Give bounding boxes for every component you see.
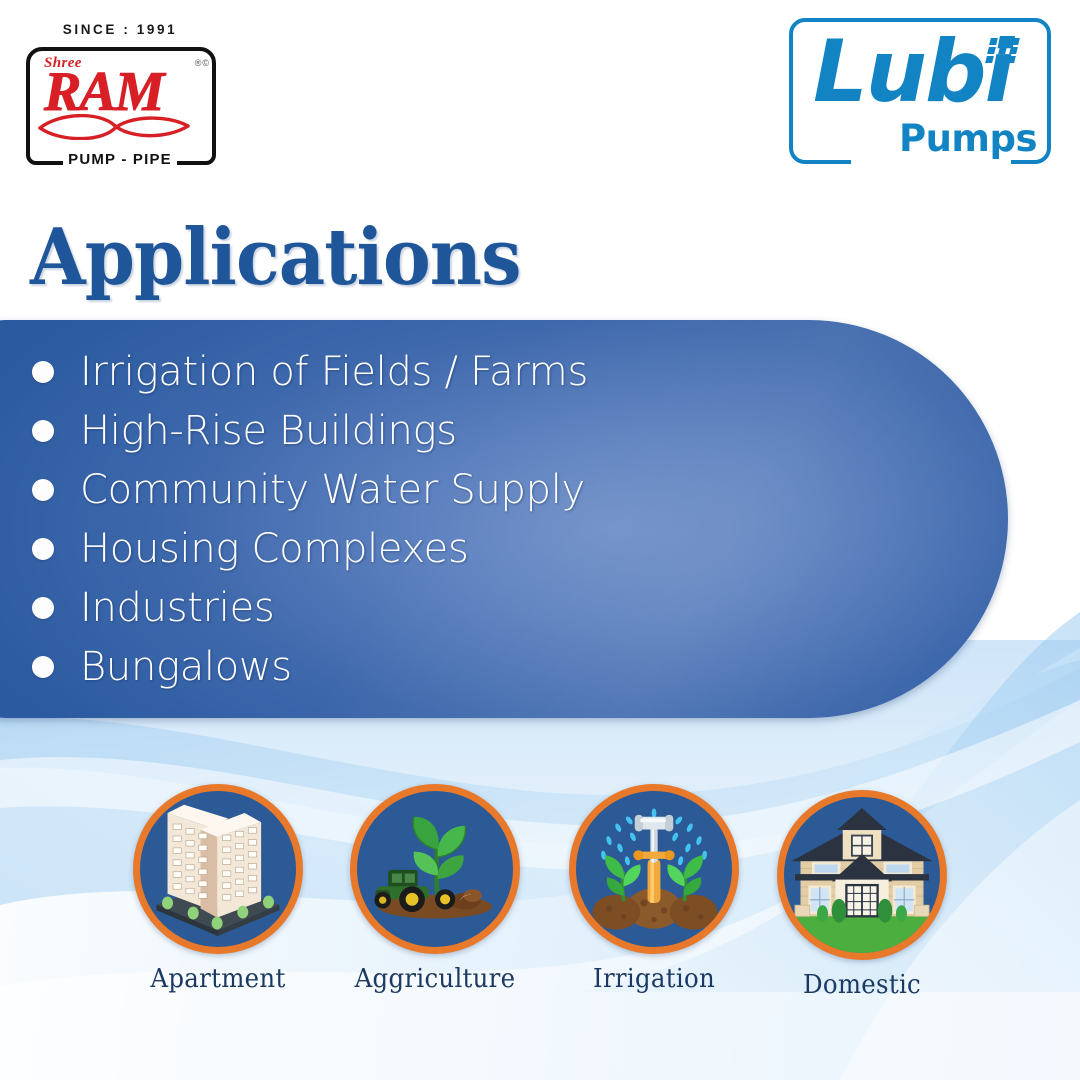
list-item-label: Community Water Supply [80, 468, 585, 512]
list-item: High-Rise Buildings [32, 401, 932, 460]
shree-ram-logo: SINCE : 1991 Shree RAM ®© PUMP - PIPE [20, 22, 220, 167]
bullet-dot-icon [32, 597, 54, 619]
ram-since-text: SINCE : 1991 [20, 22, 220, 37]
apartment-buildings-icon [133, 784, 303, 954]
ram-tagline: PUMP - PIPE [63, 151, 177, 168]
ram-tagline-wrap: PUMP - PIPE [20, 151, 220, 169]
list-item: Irrigation of Fields / Farms [32, 342, 932, 401]
lubi-wordmark: Lubi [813, 24, 1012, 120]
lubi-subtitle: Pumps [899, 117, 1037, 160]
applications-panel: Irrigation of Fields / Farms High-Rise B… [0, 320, 1008, 718]
list-item: Industries [32, 578, 932, 637]
list-item: Housing Complexes [32, 519, 932, 578]
sprinkler-icon [569, 784, 739, 954]
applications-list: Irrigation of Fields / Farms High-Rise B… [32, 342, 932, 696]
ram-wordmark: RAM [44, 64, 194, 120]
icon-label: Aggriculture [350, 964, 519, 994]
ram-swash-flourish [36, 114, 196, 140]
house-icon [777, 790, 947, 960]
icon-label: Domestic [777, 970, 946, 1000]
bullet-dot-icon [32, 420, 54, 442]
icon-item-agriculture: Aggriculture [345, 784, 525, 994]
list-item-label: Irrigation of Fields / Farms [80, 350, 588, 394]
page-title: Applications [30, 216, 521, 300]
ram-trademark-symbol: ®© [195, 58, 210, 68]
poster-canvas: SINCE : 1991 Shree RAM ®© PUMP - PIPE Lu… [0, 0, 1080, 1080]
lubi-pumps-logo: Lubi Pumps [789, 18, 1051, 164]
icon-label: Apartment [133, 964, 302, 994]
bullet-dot-icon [32, 656, 54, 678]
list-item-label: Industries [80, 586, 274, 630]
icon-item-irrigation: Irrigation [564, 784, 744, 994]
lubi-grid-dots-icon [990, 38, 1024, 64]
bullet-dot-icon [32, 361, 54, 383]
list-item-label: Bungalows [80, 645, 292, 689]
list-item: Community Water Supply [32, 460, 932, 519]
icon-item-domestic: Domestic [772, 790, 952, 1000]
icon-item-apartment: Apartment [128, 784, 308, 994]
list-item-label: High-Rise Buildings [80, 409, 457, 453]
list-item: Bungalows [32, 637, 932, 696]
bullet-dot-icon [32, 538, 54, 560]
list-item-label: Housing Complexes [80, 527, 469, 571]
icon-label: Irrigation [569, 964, 738, 994]
bullet-dot-icon [32, 479, 54, 501]
tractor-plant-icon [350, 784, 520, 954]
application-icon-row: Apartment [0, 784, 1080, 1014]
